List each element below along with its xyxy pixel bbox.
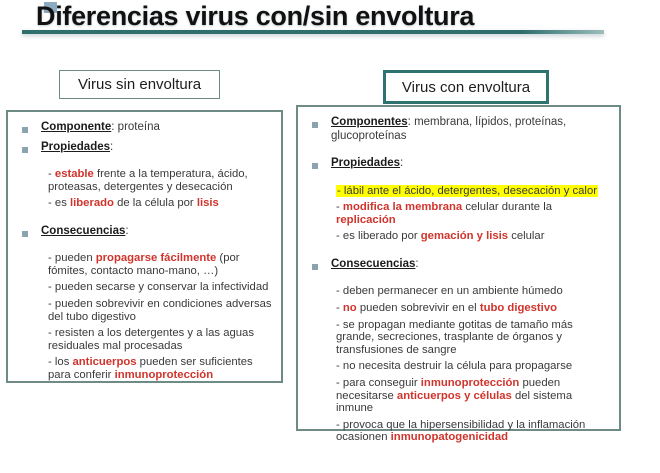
bullet-label: Consecuencias bbox=[41, 225, 125, 237]
spacer bbox=[16, 214, 273, 225]
left-consecuencias-lines: - pueden propagarse fácilmente (por fómi… bbox=[48, 252, 273, 381]
plain-text: para conseguir bbox=[343, 377, 421, 389]
page-title: Diferencias virus con/sin envoltura bbox=[36, 1, 474, 32]
plain-text: lábil ante el ácido, detergentes, deseca… bbox=[344, 185, 597, 197]
spacer bbox=[306, 149, 611, 157]
plain-text: es liberado por bbox=[343, 230, 421, 242]
emphasis-text: anticuerpos bbox=[73, 356, 137, 368]
square-bullet-icon bbox=[312, 264, 318, 270]
slide-title-block: Diferencias virus con/sin envoltura bbox=[0, 0, 660, 48]
emphasis-text: lisis bbox=[197, 197, 219, 209]
plain-text: no necesita destruir la célula para prop… bbox=[343, 360, 572, 372]
plain-text: celular bbox=[508, 230, 544, 242]
detail-line: - resisten a los detergentes y a las agu… bbox=[48, 327, 273, 352]
emphasis-text: inmunopatogenicidad bbox=[391, 431, 508, 443]
dash-marker: - bbox=[336, 360, 343, 372]
right-consecuencias-lines: - deben permanecer en un ambiente húmedo… bbox=[336, 285, 611, 444]
highlighted-text: - lábil ante el ácido, detergentes, dese… bbox=[336, 185, 598, 197]
list-item: Componentes: membrana, lípidos, proteína… bbox=[306, 116, 611, 143]
line-text: - no necesita destruir la célula para pr… bbox=[336, 360, 572, 372]
plain-text: los bbox=[55, 356, 73, 368]
dash-marker: - bbox=[337, 185, 344, 197]
square-bullet-icon bbox=[312, 122, 318, 128]
line-text: - estable frente a la temperatura, ácido… bbox=[48, 168, 248, 193]
line-text: - modifica la membrana celular durante l… bbox=[336, 201, 552, 226]
bullet-label: Propiedades bbox=[331, 157, 400, 169]
dash-marker: - bbox=[48, 252, 55, 264]
list-item: Consecuencias: bbox=[16, 225, 273, 239]
dash-marker: - bbox=[336, 201, 343, 213]
detail-line: - lábil ante el ácido, detergentes, dese… bbox=[336, 185, 611, 198]
bullet-separator: : bbox=[110, 141, 113, 153]
detail-line: - no necesita destruir la célula para pr… bbox=[336, 360, 611, 373]
panel-left-content: Componente: proteína Propiedades: - esta… bbox=[8, 112, 281, 392]
bullet-label: Consecuencias bbox=[331, 258, 415, 270]
emphasis-text: anticuerpos y células bbox=[397, 390, 512, 402]
spacer bbox=[16, 244, 273, 252]
line-text: - se propagan mediante gotitas de tamaño… bbox=[336, 319, 573, 356]
detail-line: - es liberado por gemación y lisis celul… bbox=[336, 230, 611, 243]
list-item: Consecuencias: bbox=[306, 258, 611, 272]
dash-marker: - bbox=[48, 298, 55, 310]
bullet-label: Propiedades bbox=[41, 141, 110, 153]
spacer bbox=[16, 160, 273, 168]
detail-line: - no pueden sobrevivir en el tubo digest… bbox=[336, 302, 611, 315]
line-text: - pueden propagarse fácilmente (por fómi… bbox=[48, 252, 240, 277]
plain-text: celular durante la bbox=[462, 201, 552, 213]
detail-line: - para conseguir inmunoprotección pueden… bbox=[336, 377, 611, 415]
bullet-propiedades: Propiedades: bbox=[41, 141, 273, 155]
panel-right-content: Componentes: membrana, lípidos, proteína… bbox=[298, 107, 619, 454]
detail-line: - se propagan mediante gotitas de tamaño… bbox=[336, 319, 611, 357]
plain-text: deben permanecer en un ambiente húmedo bbox=[343, 285, 563, 297]
line-text: - pueden secarse y conservar la infectiv… bbox=[48, 281, 268, 293]
detail-line: - deben permanecer en un ambiente húmedo bbox=[336, 285, 611, 298]
dash-marker: - bbox=[48, 168, 55, 180]
line-text: - no pueden sobrevivir en el tubo digest… bbox=[336, 302, 557, 314]
emphasis-text: inmunoprotección bbox=[421, 377, 520, 389]
panel-virus-sin-envoltura: Componente: proteína Propiedades: - esta… bbox=[6, 110, 283, 383]
line-text: - los anticuerpos pueden ser suficientes… bbox=[48, 356, 253, 381]
left-propiedades-lines: - estable frente a la temperatura, ácido… bbox=[48, 168, 273, 210]
header-box-virus-con-envoltura: Virus con envoltura bbox=[383, 70, 549, 104]
dash-marker: - bbox=[48, 356, 55, 368]
header-box-virus-sin-envoltura: Virus sin envoltura bbox=[59, 70, 220, 99]
emphasis-text: no bbox=[343, 302, 357, 314]
spacer bbox=[306, 177, 611, 185]
header-left-label: Virus sin envoltura bbox=[78, 76, 201, 93]
dash-marker: - bbox=[48, 327, 55, 339]
emphasis-text: gemación y lisis bbox=[421, 230, 508, 242]
detail-line: - provoca que la hipersensibilidad y la … bbox=[336, 419, 611, 444]
spacer bbox=[306, 277, 611, 285]
dash-marker: - bbox=[336, 285, 343, 297]
bullet-label: Componente bbox=[41, 121, 111, 133]
dash-marker: - bbox=[336, 319, 343, 331]
plain-text: pueden sobrevivir en condiciones adversa… bbox=[48, 298, 272, 323]
plain-text: pueden secarse y conservar la infectivid… bbox=[55, 281, 269, 293]
dash-marker: - bbox=[48, 281, 55, 293]
header-right-label: Virus con envoltura bbox=[402, 79, 530, 96]
bullet-separator: : bbox=[400, 157, 403, 169]
detail-line: - pueden secarse y conservar la infectiv… bbox=[48, 281, 273, 294]
dash-marker: - bbox=[336, 419, 343, 431]
bullet-componentes: Componentes: membrana, lípidos, proteína… bbox=[331, 116, 611, 143]
plain-text: pueden sobrevivir en el bbox=[357, 302, 480, 314]
detail-line: - estable frente a la temperatura, ácido… bbox=[48, 168, 273, 193]
detail-line: - modifica la membrana celular durante l… bbox=[336, 201, 611, 226]
detail-line: - es liberado de la célula por lisis bbox=[48, 197, 273, 210]
square-bullet-icon bbox=[312, 163, 318, 169]
title-underline-rule bbox=[22, 30, 604, 34]
plain-text: es bbox=[55, 197, 70, 209]
panel-virus-con-envoltura: Componentes: membrana, lípidos, proteína… bbox=[296, 105, 621, 431]
plain-text: resisten a los detergentes y a las aguas… bbox=[48, 327, 254, 352]
dash-marker: - bbox=[48, 197, 55, 209]
bullet-label: Componentes bbox=[331, 116, 408, 128]
list-item: Propiedades: bbox=[306, 157, 611, 171]
bullet-value: proteína bbox=[118, 121, 160, 133]
detail-line: - los anticuerpos pueden ser suficientes… bbox=[48, 356, 273, 381]
detail-line: - pueden sobrevivir en condiciones adver… bbox=[48, 298, 273, 323]
bullet-propiedades: Propiedades: bbox=[331, 157, 611, 171]
bullet-componente: Componente: proteína bbox=[41, 121, 273, 135]
line-text: - provoca que la hipersensibilidad y la … bbox=[336, 419, 585, 444]
line-text: - pueden sobrevivir en condiciones adver… bbox=[48, 298, 272, 323]
bullet-consecuencias: Consecuencias: bbox=[41, 225, 273, 239]
list-item: Componente: proteína bbox=[16, 121, 273, 135]
plain-text: pueden bbox=[55, 252, 96, 264]
right-propiedades-lines: - lábil ante el ácido, detergentes, dese… bbox=[336, 185, 611, 243]
emphasis-text: modifica la membrana bbox=[343, 201, 462, 213]
line-text: - para conseguir inmunoprotección pueden… bbox=[336, 377, 572, 414]
bullet-consecuencias: Consecuencias: bbox=[331, 258, 611, 272]
line-text: - deben permanecer en un ambiente húmedo bbox=[336, 285, 563, 297]
line-text: - resisten a los detergentes y a las agu… bbox=[48, 327, 254, 352]
dash-marker: - bbox=[336, 230, 343, 242]
plain-text: de la célula por bbox=[114, 197, 197, 209]
plain-text: se propagan mediante gotitas de tamaño m… bbox=[336, 319, 573, 356]
detail-line: - pueden propagarse fácilmente (por fómi… bbox=[48, 252, 273, 277]
emphasis-text: liberado bbox=[70, 197, 114, 209]
emphasis-text: replicación bbox=[336, 214, 396, 226]
spacer bbox=[306, 247, 611, 258]
emphasis-text: estable bbox=[55, 168, 94, 180]
dash-marker: - bbox=[336, 377, 343, 389]
dash-marker: - bbox=[336, 302, 343, 314]
emphasis-text: propagarse fácilmente bbox=[96, 252, 217, 264]
square-bullet-icon bbox=[22, 231, 28, 237]
square-bullet-icon bbox=[22, 127, 28, 133]
line-text: - es liberado por gemación y lisis celul… bbox=[336, 230, 544, 242]
emphasis-text: inmunoprotección bbox=[115, 369, 214, 381]
bullet-separator: : bbox=[415, 258, 418, 270]
emphasis-text: tubo digestivo bbox=[480, 302, 557, 314]
list-item: Propiedades: bbox=[16, 141, 273, 155]
bullet-separator: : bbox=[125, 225, 128, 237]
line-text: - es liberado de la célula por lisis bbox=[48, 197, 219, 209]
square-bullet-icon bbox=[22, 147, 28, 153]
